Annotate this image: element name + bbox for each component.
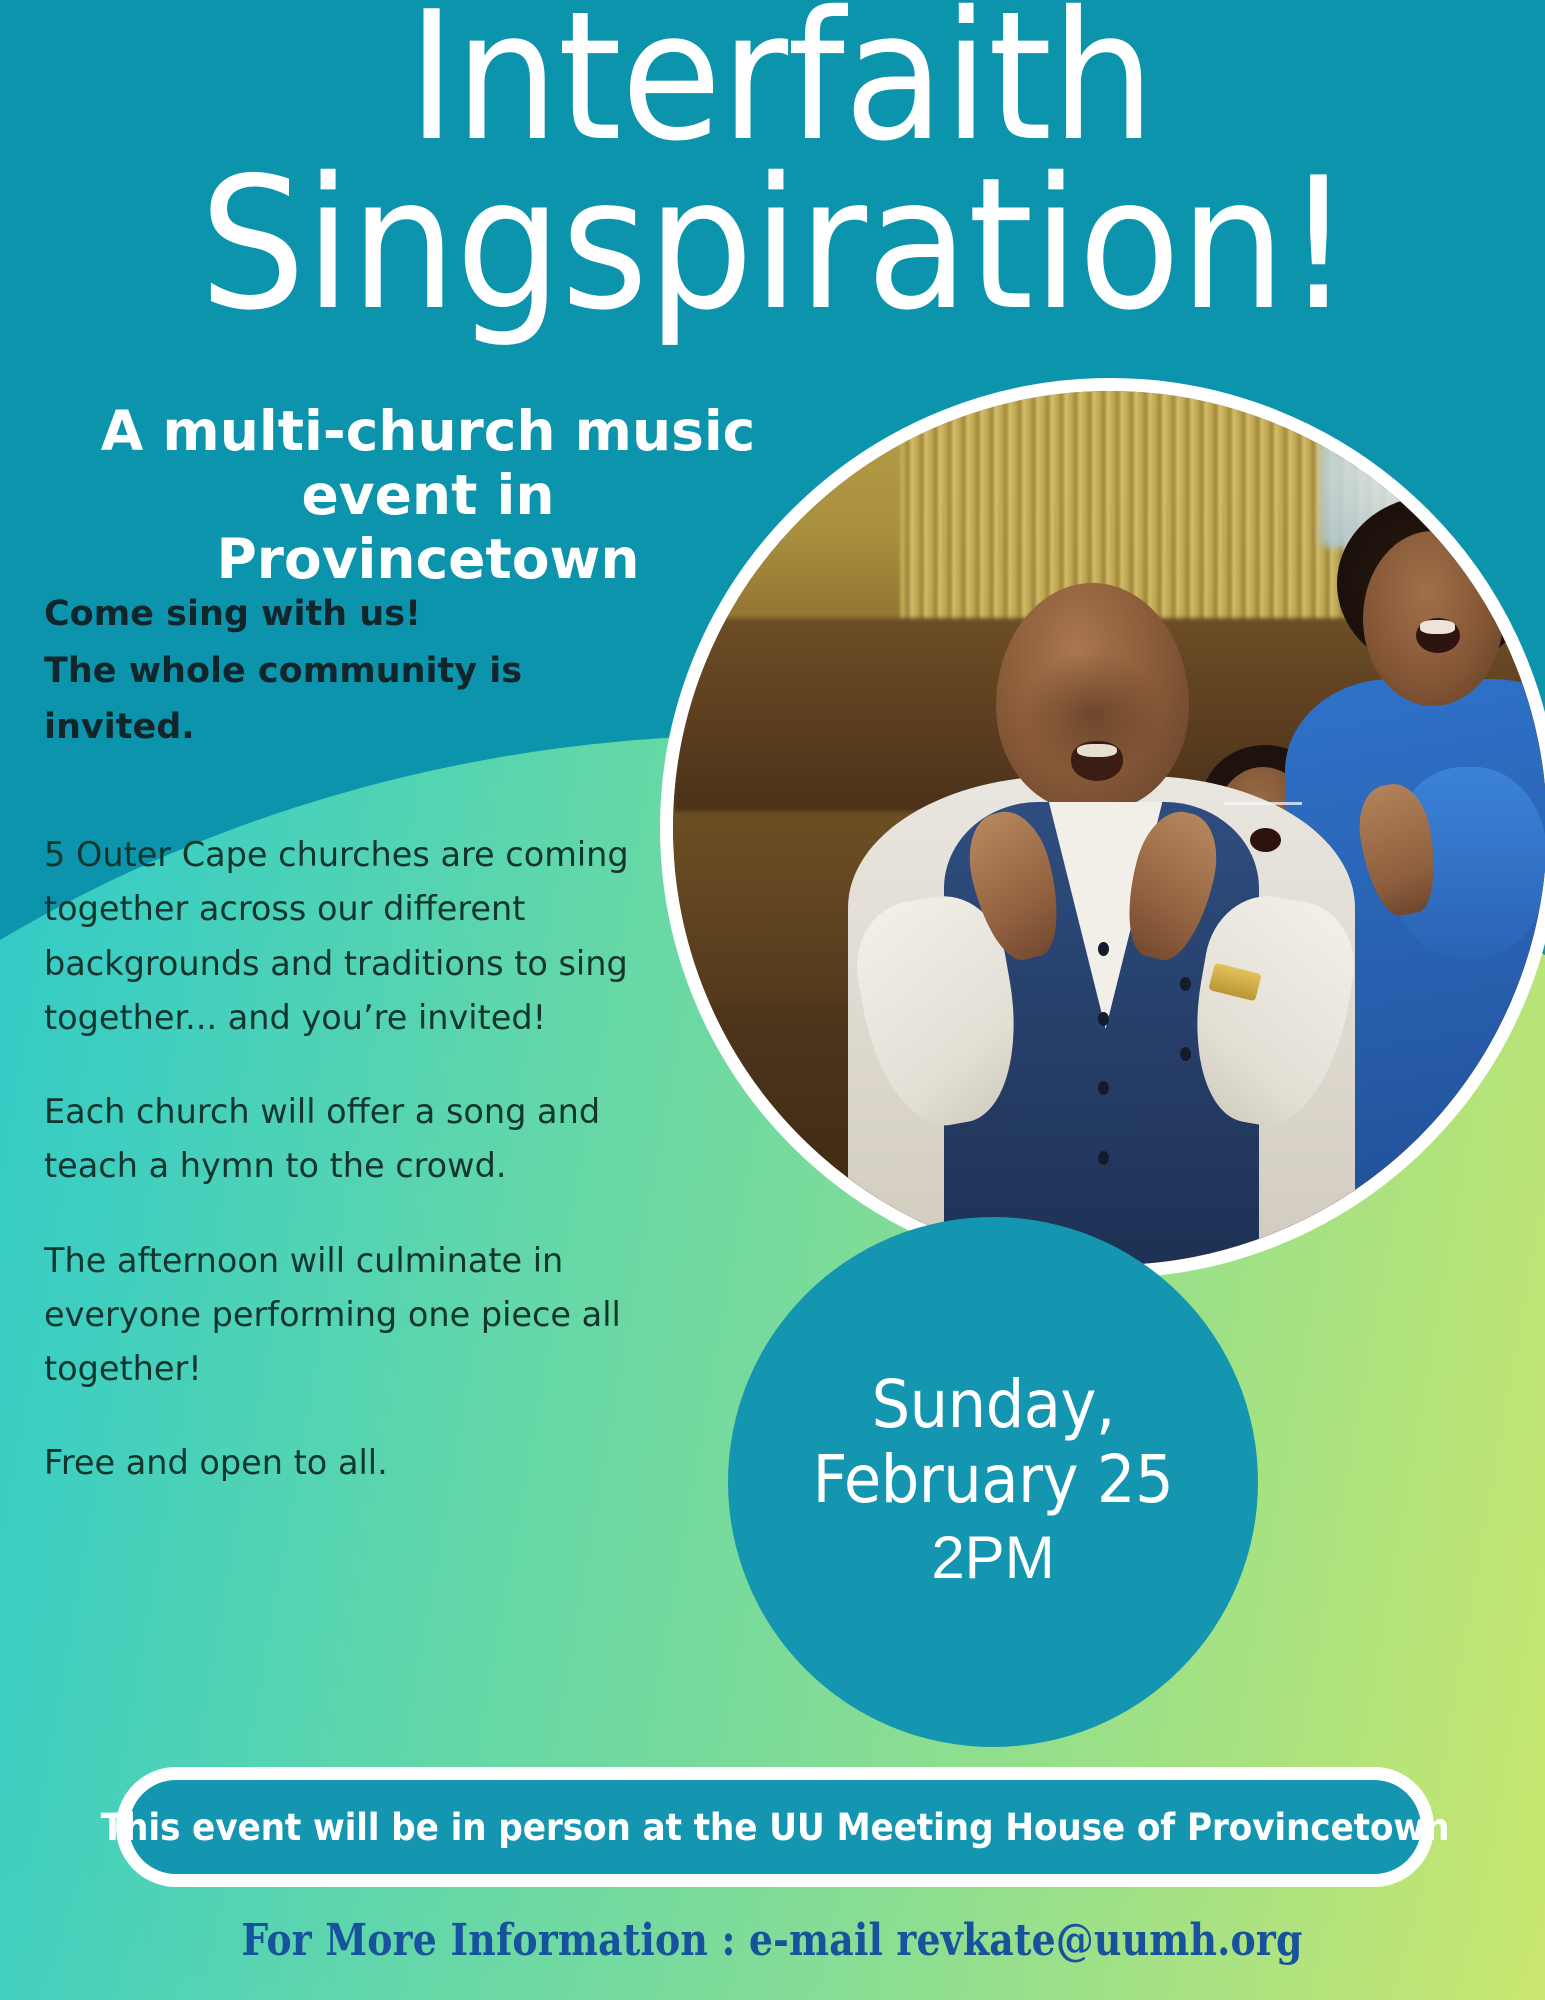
- photo-singer-blue-mouth: [1416, 618, 1460, 653]
- photo-vest-button: [1098, 942, 1109, 956]
- event-date-badge: Sunday, February 25 2PM: [728, 1217, 1258, 1747]
- event-time: 2PM: [931, 1519, 1054, 1597]
- intro-text: Come sing with us! The whole community i…: [44, 586, 604, 756]
- event-poster: Interfaith Singspiration! A multi-church…: [0, 0, 1545, 2000]
- poster-subtitle: A multi-church music event in Provinceto…: [88, 400, 768, 591]
- body-paragraph: Each church will offer a song and teach …: [44, 1085, 664, 1194]
- body-paragraph: The afternoon will culminate in everyone…: [44, 1234, 664, 1397]
- event-date: February 25: [813, 1442, 1174, 1517]
- body-copy: 5 Outer Cape churches are coming togethe…: [44, 828, 664, 1491]
- location-banner-text: This event will be in person at the UU M…: [101, 1806, 1450, 1849]
- contact-footer-text[interactable]: For More Information : e-mail revkate@uu…: [242, 1915, 1303, 1966]
- event-day: Sunday,: [871, 1367, 1114, 1442]
- choir-photo: [673, 391, 1545, 1265]
- location-banner: This event will be in person at the UU M…: [116, 1767, 1434, 1887]
- title-line-1: Interfaith: [62, 0, 1483, 160]
- photo-vest-button: [1180, 1047, 1191, 1061]
- choir-photo-circle: [660, 378, 1545, 1278]
- photo-vest-button: [1180, 977, 1191, 991]
- subtitle-line-1: A multi-church music: [88, 400, 768, 464]
- intro-line-1: Come sing with us!: [44, 586, 604, 643]
- poster-title: Interfaith Singspiration!: [62, 0, 1483, 329]
- photo-vest-button: [1098, 1151, 1109, 1165]
- body-paragraph: 5 Outer Cape churches are coming togethe…: [44, 828, 664, 1045]
- photo-vest-button: [1098, 1012, 1109, 1026]
- intro-line-3: invited.: [44, 699, 604, 756]
- intro-line-2: The whole community is: [44, 643, 604, 700]
- contact-footer: For More Information : e-mail revkate@uu…: [0, 1915, 1545, 1966]
- photo-singer-glasses-icon: [1224, 802, 1303, 825]
- body-paragraph: Free and open to all.: [44, 1436, 664, 1490]
- photo-lead-singer-mouth: [1071, 741, 1123, 781]
- subtitle-line-2: event in Provincetown: [88, 464, 768, 592]
- title-line-2: Singspiration!: [62, 160, 1483, 329]
